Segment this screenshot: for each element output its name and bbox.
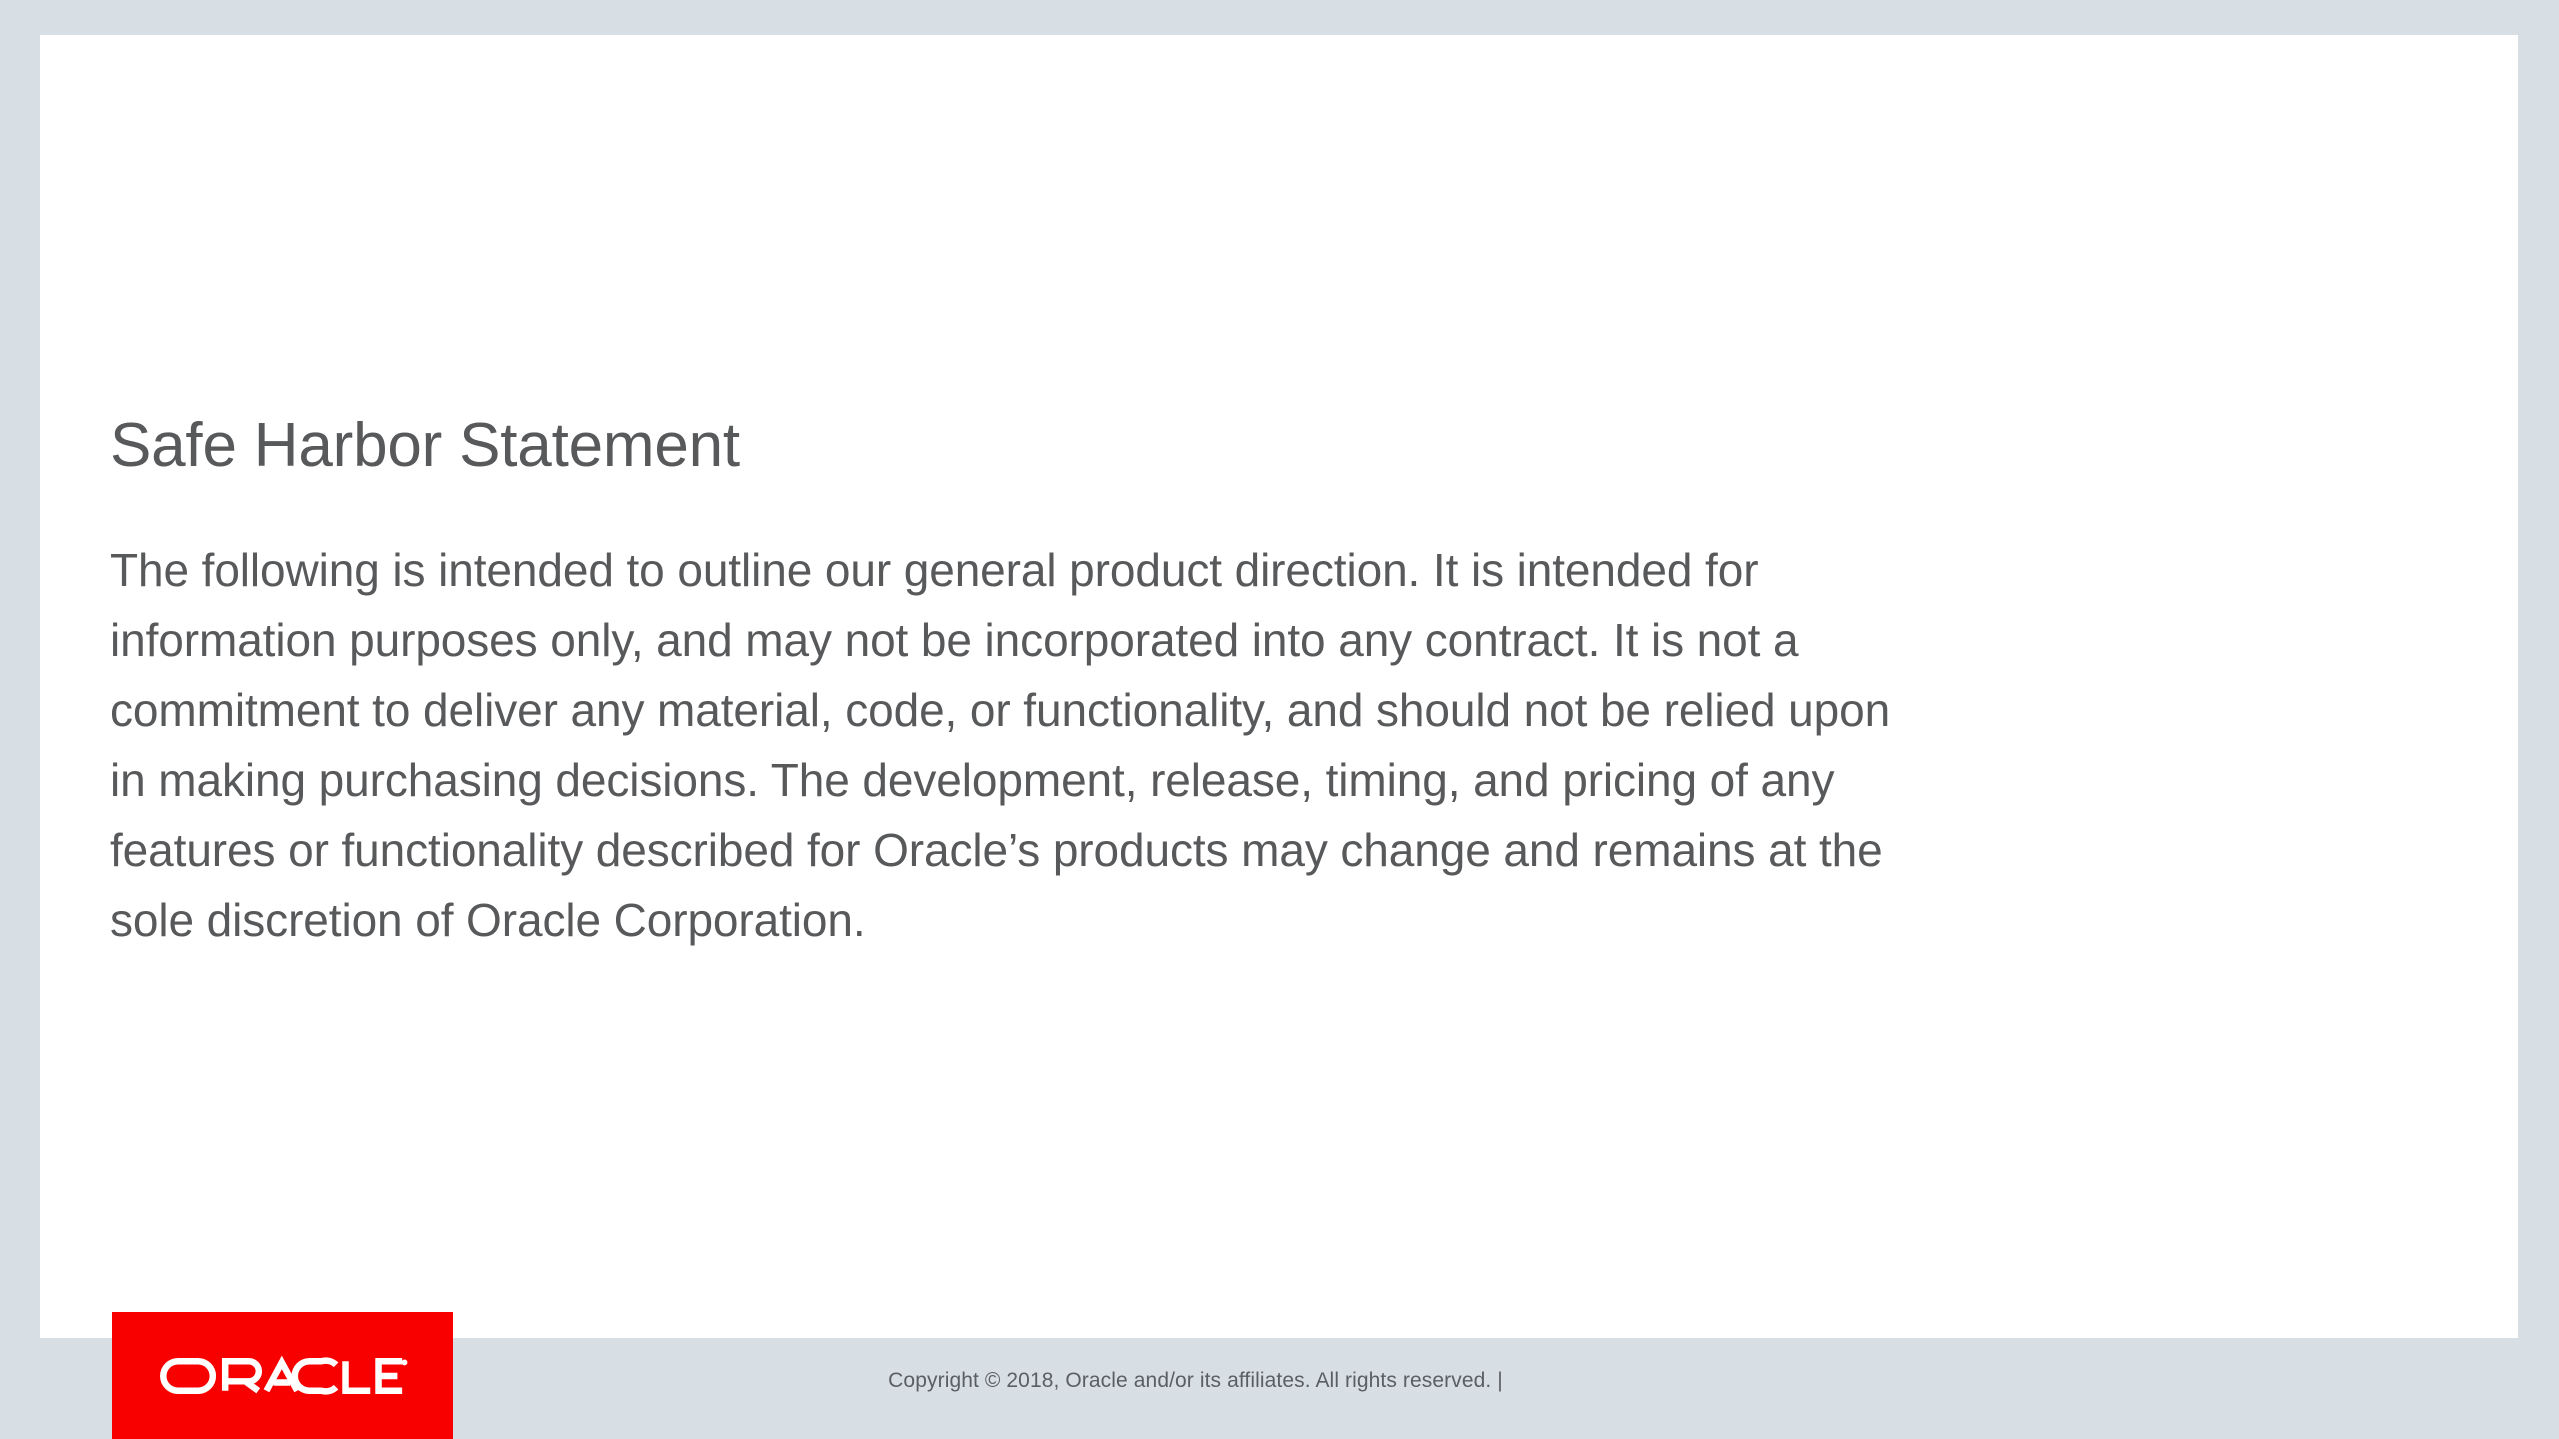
paragraph-line: commitment to deliver any material, code… (110, 675, 2500, 745)
slide-root: Safe Harbor Statement The following is i… (0, 0, 2559, 1439)
paragraph-line: in making purchasing decisions. The deve… (110, 745, 2500, 815)
page-title: Safe Harbor Statement (110, 415, 2500, 477)
slide-canvas: Safe Harbor Statement The following is i… (40, 35, 2518, 1338)
oracle-logo (112, 1312, 453, 1439)
slide-content-block: Safe Harbor Statement The following is i… (110, 415, 2500, 955)
paragraph-line: The following is intended to outline our… (110, 535, 2500, 605)
paragraph-line: information purposes only, and may not b… (110, 605, 2500, 675)
paragraph-line: sole discretion of Oracle Corporation. (110, 885, 2500, 955)
safe-harbor-paragraph: The following is intended to outline our… (110, 477, 2500, 955)
paragraph-line: features or functionality described for … (110, 815, 2500, 885)
